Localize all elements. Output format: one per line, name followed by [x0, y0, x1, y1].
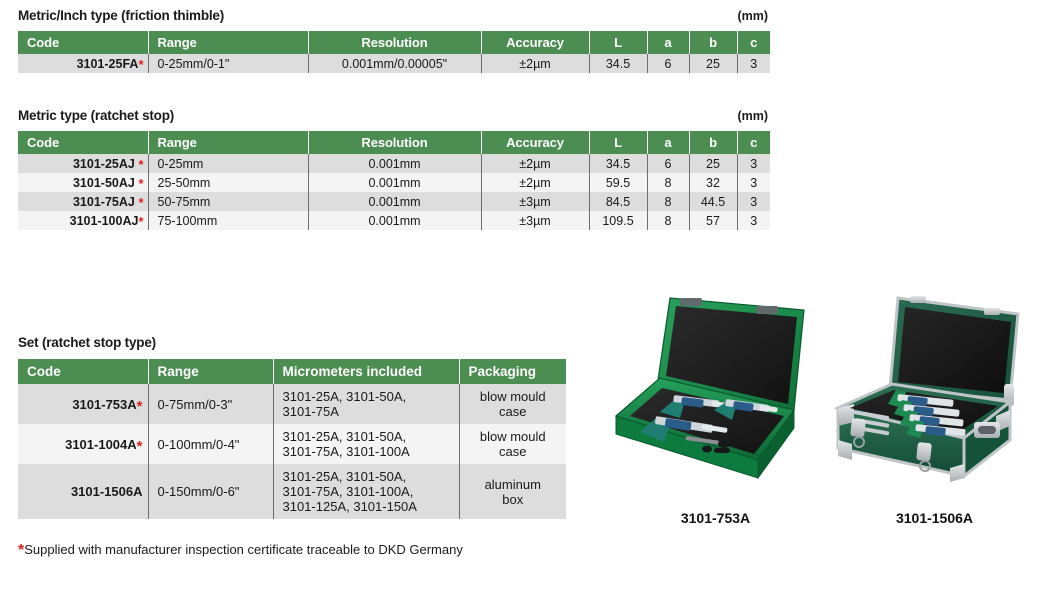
code-text: 3101-753A: [72, 397, 136, 412]
col-header-packaging: Packaging: [459, 359, 566, 384]
col-header-micrometers: Micrometers included: [273, 359, 459, 384]
cell-code: 3101-75AJ *: [18, 192, 148, 211]
cell-resolution: 0.001mm: [308, 154, 481, 173]
col-header-c: c: [737, 31, 770, 54]
cell-range: 0-25mm: [148, 154, 308, 173]
table-row: 3101-1506A 0-150mm/0-6" 3101-25A, 3101-5…: [18, 464, 566, 519]
cell-b: 44.5: [689, 192, 737, 211]
cell-range: 75-100mm: [148, 211, 308, 230]
cell-l: 109.5: [589, 211, 647, 230]
footnote: *Supplied with manufacturer inspection c…: [18, 542, 463, 558]
code-text: 3101-50AJ: [73, 176, 135, 190]
cell-l: 59.5: [589, 173, 647, 192]
certificate-star-icon: *: [135, 176, 144, 191]
table-header-row: Code Range Micrometers included Packagin…: [18, 359, 566, 384]
included-line: 3101-75A, 3101-100A: [283, 444, 459, 459]
col-header-b: b: [689, 31, 737, 54]
code-text: 3101-75AJ: [73, 195, 135, 209]
table-row: 3101-25FA* 0-25mm/0-1" 0.001mm/0.00005" …: [18, 54, 770, 73]
packaging-line: blow mould: [460, 389, 567, 404]
packaging-line: case: [460, 404, 567, 419]
cell-b: 25: [689, 154, 737, 173]
included-line: 3101-75A: [283, 404, 459, 419]
certificate-star-icon: *: [135, 195, 144, 210]
packaging-line: blow mould: [460, 429, 567, 444]
cell-code: 3101-25AJ *: [18, 154, 148, 173]
cell-code: 3101-100AJ*: [18, 211, 148, 230]
cell-packaging: aluminum box: [459, 464, 566, 519]
cell-resolution: 0.001mm/0.00005": [308, 54, 481, 73]
certificate-star-icon: *: [137, 398, 143, 415]
col-header-code: Code: [18, 131, 148, 154]
col-header-a: a: [647, 131, 689, 154]
table-block-metric-ratchet: Metric type (ratchet stop) (mm) Code Ran…: [18, 108, 770, 230]
code-text: 3101-25AJ: [73, 157, 135, 171]
included-line: 3101-75A, 3101-100A,: [283, 484, 459, 499]
table-header-row: Code Range Resolution Accuracy L a b c: [18, 131, 770, 154]
cell-code: 3101-1004A*: [18, 424, 148, 464]
cell-code: 3101-753A*: [18, 384, 148, 424]
cell-accuracy: ±2µm: [481, 173, 589, 192]
table-title-set: Set (ratchet stop type): [18, 335, 566, 350]
footnote-star-icon: *: [18, 542, 24, 559]
col-header-range: Range: [148, 31, 308, 54]
product-caption-3101-753A: 3101-753A: [608, 510, 823, 526]
cell-a: 8: [647, 192, 689, 211]
table-row: 3101-75AJ * 50-75mm 0.001mm ±3µm 84.5 8 …: [18, 192, 770, 211]
col-header-accuracy: Accuracy: [481, 131, 589, 154]
table-header-row: Code Range Resolution Accuracy L a b c: [18, 31, 770, 54]
col-header-a: a: [647, 31, 689, 54]
cell-a: 6: [647, 54, 689, 73]
certificate-star-icon: *: [138, 57, 143, 72]
code-text: 3101-1004A: [65, 437, 137, 452]
col-header-l: L: [589, 131, 647, 154]
cell-c: 3: [737, 192, 770, 211]
cell-micrometers-included: 3101-25A, 3101-50A, 3101-75A, 3101-100A: [273, 424, 459, 464]
cell-l: 34.5: [589, 154, 647, 173]
cell-c: 3: [737, 154, 770, 173]
table-block-set: Set (ratchet stop type) Code Range Micro…: [18, 335, 566, 519]
included-line: 3101-25A, 3101-50A,: [283, 469, 459, 484]
table-row: 3101-25AJ * 0-25mm 0.001mm ±2µm 34.5 6 2…: [18, 154, 770, 173]
certificate-star-icon: *: [135, 157, 144, 172]
product-caption-3101-1506A: 3101-1506A: [832, 510, 1037, 526]
cell-accuracy: ±3µm: [481, 192, 589, 211]
table-row: 3101-100AJ* 75-100mm 0.001mm ±3µm 109.5 …: [18, 211, 770, 230]
col-header-b: b: [689, 131, 737, 154]
table-title-metric-ratchet: Metric type (ratchet stop): [18, 108, 770, 123]
cell-resolution: 0.001mm: [308, 192, 481, 211]
included-line: 3101-125A, 3101-150A: [283, 499, 459, 514]
product-image-3101-1506A: 3101-1506A: [832, 292, 1037, 537]
cell-accuracy: ±3µm: [481, 211, 589, 230]
cell-micrometers-included: 3101-25A, 3101-50A, 3101-75A, 3101-100A,…: [273, 464, 459, 519]
table-row: 3101-50AJ * 25-50mm 0.001mm ±2µm 59.5 8 …: [18, 173, 770, 192]
unit-label-metric-inch: (mm): [737, 9, 768, 23]
col-header-range: Range: [148, 131, 308, 154]
cell-b: 57: [689, 211, 737, 230]
cell-range: 0-25mm/0-1": [148, 54, 308, 73]
cell-resolution: 0.001mm: [308, 211, 481, 230]
code-text: 3101-25FA: [77, 57, 139, 71]
spec-table-metric-inch: Code Range Resolution Accuracy L a b c 3…: [18, 31, 770, 73]
cell-code: 3101-50AJ *: [18, 173, 148, 192]
cell-packaging: blow mould case: [459, 424, 566, 464]
cell-range: 0-150mm/0-6": [148, 464, 273, 519]
cell-range: 0-100mm/0-4": [148, 424, 273, 464]
cell-b: 25: [689, 54, 737, 73]
table-row: 3101-1004A* 0-100mm/0-4" 3101-25A, 3101-…: [18, 424, 566, 464]
included-line: 3101-25A, 3101-50A,: [283, 389, 459, 404]
packaging-line: aluminum: [460, 477, 567, 492]
cell-a: 6: [647, 154, 689, 173]
col-header-resolution: Resolution: [308, 131, 481, 154]
product-image-3101-753A: 3101-753A: [608, 292, 823, 537]
col-header-code: Code: [18, 359, 148, 384]
certificate-star-icon: *: [138, 214, 143, 229]
cell-range: 0-75mm/0-3": [148, 384, 273, 424]
unit-label-metric-ratchet: (mm): [737, 109, 768, 123]
included-line: 3101-25A, 3101-50A,: [283, 429, 459, 444]
cell-range: 25-50mm: [148, 173, 308, 192]
cell-range: 50-75mm: [148, 192, 308, 211]
col-header-c: c: [737, 131, 770, 154]
cell-accuracy: ±2µm: [481, 54, 589, 73]
cell-l: 34.5: [589, 54, 647, 73]
code-text: 3101-1506A: [71, 484, 143, 499]
aluminum-box-illustration: [832, 292, 1037, 502]
cell-l: 84.5: [589, 192, 647, 211]
cell-a: 8: [647, 173, 689, 192]
cell-c: 3: [737, 54, 770, 73]
table-block-metric-inch: Metric/Inch type (friction thimble) (mm)…: [18, 8, 770, 73]
certificate-star-icon: *: [137, 438, 143, 455]
cell-code: 3101-25FA*: [18, 54, 148, 73]
col-header-accuracy: Accuracy: [481, 31, 589, 54]
spec-table-set: Code Range Micrometers included Packagin…: [18, 359, 566, 519]
table-title-metric-inch: Metric/Inch type (friction thimble): [18, 8, 770, 23]
box-base: [838, 384, 1010, 482]
cell-resolution: 0.001mm: [308, 173, 481, 192]
packaging-line: box: [460, 492, 567, 507]
packaging-line: case: [460, 444, 567, 459]
cell-b: 32: [689, 173, 737, 192]
col-header-resolution: Resolution: [308, 31, 481, 54]
cell-code: 3101-1506A: [18, 464, 148, 519]
table-row: 3101-753A* 0-75mm/0-3" 3101-25A, 3101-50…: [18, 384, 566, 424]
cell-c: 3: [737, 173, 770, 192]
cell-a: 8: [647, 211, 689, 230]
cell-accuracy: ±2µm: [481, 154, 589, 173]
col-header-range: Range: [148, 359, 273, 384]
footnote-text: Supplied with manufacturer inspection ce…: [24, 542, 463, 557]
cell-c: 3: [737, 211, 770, 230]
code-text: 3101-100AJ: [70, 214, 139, 228]
col-header-code: Code: [18, 31, 148, 54]
carry-handle: [974, 422, 1000, 438]
cell-packaging: blow mould case: [459, 384, 566, 424]
spec-table-metric-ratchet: Code Range Resolution Accuracy L a b c 3…: [18, 131, 770, 230]
cell-micrometers-included: 3101-25A, 3101-50A, 3101-75A: [273, 384, 459, 424]
col-header-l: L: [589, 31, 647, 54]
blow-mould-case-illustration: [608, 292, 823, 502]
